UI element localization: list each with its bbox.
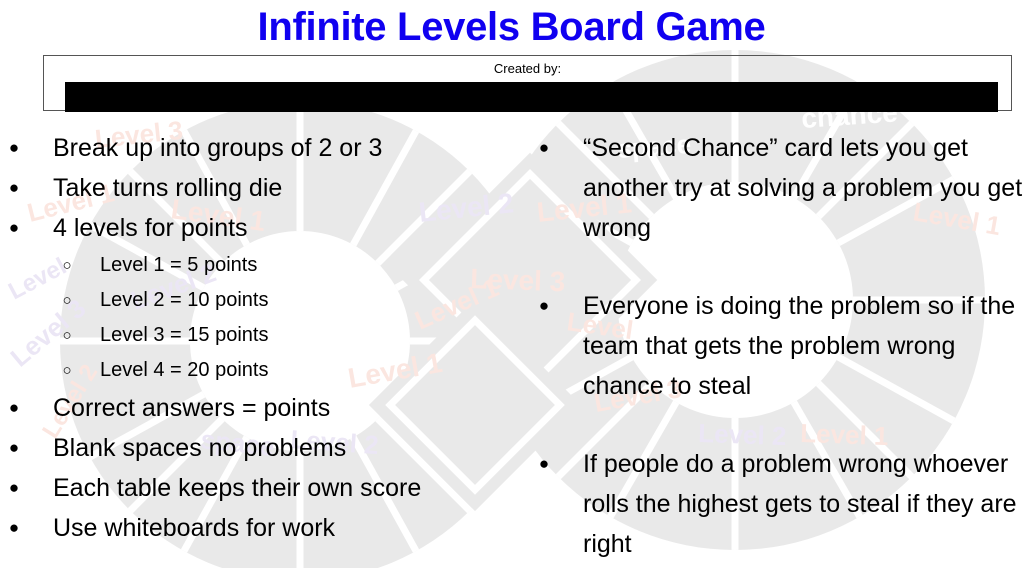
bullet-disc-icon: ●: [8, 128, 20, 168]
list-item: ● “Second Chance” card lets you get anot…: [530, 128, 1023, 248]
list-item: ● Use whiteboards for work: [0, 508, 520, 548]
list-item-label: Level 4 = 20 points: [100, 353, 520, 388]
list-item-label: Everyone is doing the problem so if the …: [583, 286, 1023, 406]
created-by-label: Created by:: [44, 61, 1011, 77]
bullet-circle-icon: ○: [61, 248, 73, 283]
bullet-disc-icon: ●: [8, 168, 20, 208]
created-by-box: Created by:: [43, 55, 1012, 111]
bullet-disc-icon: ●: [8, 388, 20, 428]
bullet-circle-icon: ○: [61, 283, 73, 318]
list-item: ○ Level 1 = 5 points: [53, 248, 520, 283]
list-item-label: Take turns rolling die: [53, 168, 520, 208]
levels-sub-list: ○ Level 1 = 5 points ○ Level 2 = 10 poin…: [53, 248, 520, 388]
list-item-label: 4 levels for points: [53, 208, 520, 248]
list-item: ● If people do a problem wrong whoever r…: [530, 444, 1023, 564]
slide-content: Infinite Levels Board Game Created by: ●…: [0, 0, 1023, 568]
bullet-disc-icon: ●: [538, 444, 550, 484]
list-item-label: If people do a problem wrong whoever rol…: [583, 444, 1023, 564]
bullet-circle-icon: ○: [61, 353, 73, 388]
right-bullet-column: ● “Second Chance” card lets you get anot…: [530, 128, 1023, 564]
author-redaction-bar: [65, 82, 998, 112]
list-item: ● Take turns rolling die: [0, 168, 520, 208]
list-item: ● Everyone is doing the problem so if th…: [530, 286, 1023, 406]
list-item: ● 4 levels for points ○ Level 1 = 5 poin…: [0, 208, 520, 388]
list-item-label: Use whiteboards for work: [53, 508, 520, 548]
list-item: ● Correct answers = points: [0, 388, 520, 428]
list-item-label: Correct answers = points: [53, 388, 520, 428]
bullet-disc-icon: ●: [538, 286, 550, 326]
list-item-label: Break up into groups of 2 or 3: [53, 128, 520, 168]
list-item: ○ Level 4 = 20 points: [53, 353, 520, 388]
left-bullet-column: ● Break up into groups of 2 or 3 ● Take …: [0, 128, 520, 548]
list-item-label: Level 3 = 15 points: [100, 318, 520, 353]
bullet-disc-icon: ●: [8, 468, 20, 508]
bullet-disc-icon: ●: [8, 208, 20, 248]
list-item-label: Each table keeps their own score: [53, 468, 520, 508]
left-bullet-list: ● Break up into groups of 2 or 3 ● Take …: [0, 128, 520, 548]
right-bullet-list: ● “Second Chance” card lets you get anot…: [530, 128, 1023, 564]
list-item: ○ Level 3 = 15 points: [53, 318, 520, 353]
bullet-disc-icon: ●: [8, 508, 20, 548]
list-item-label: Blank spaces no problems: [53, 428, 520, 468]
list-item: ● Each table keeps their own score: [0, 468, 520, 508]
list-item: ○ Level 2 = 10 points: [53, 283, 520, 318]
list-item: ● Blank spaces no problems: [0, 428, 520, 468]
list-item: ● Break up into groups of 2 or 3: [0, 128, 520, 168]
list-item-label: “Second Chance” card lets you get anothe…: [583, 128, 1023, 248]
bullet-disc-icon: ●: [538, 128, 550, 168]
bullet-circle-icon: ○: [61, 318, 73, 353]
bullet-disc-icon: ●: [8, 428, 20, 468]
list-item-label: Level 2 = 10 points: [100, 283, 520, 318]
list-item-label: Level 1 = 5 points: [100, 248, 520, 283]
page-title: Infinite Levels Board Game: [0, 2, 1023, 52]
